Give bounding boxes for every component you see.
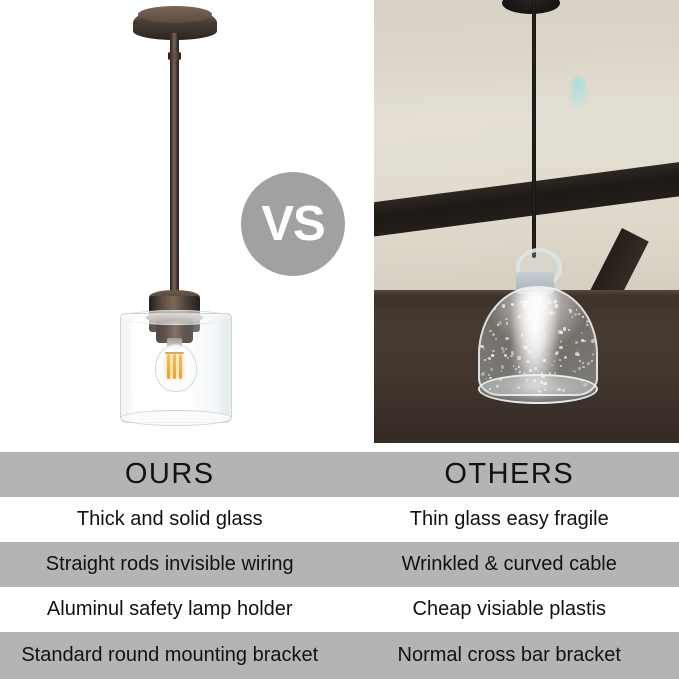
glass-bubble <box>576 309 578 311</box>
glass-bubble <box>501 370 503 372</box>
glass-bubble <box>577 303 579 305</box>
glass-bubble <box>501 365 504 368</box>
table-header-row: OURS OTHERS <box>0 452 679 497</box>
glass-bubble <box>563 327 566 330</box>
glass-bubble <box>489 330 491 332</box>
glass-bubble <box>492 354 495 357</box>
glass-bubble <box>505 318 507 320</box>
glass-bubble <box>560 331 562 333</box>
glass-shade-bottom-rim <box>120 410 232 426</box>
glass-bubble <box>485 333 486 334</box>
glass-bubble <box>587 324 590 327</box>
straight-downrod <box>170 33 179 296</box>
glass-bubble <box>575 341 578 344</box>
glass-bubble <box>578 367 581 370</box>
glass-bubble <box>566 345 567 346</box>
glass-bubble <box>582 366 584 368</box>
glass-bubble <box>579 360 581 362</box>
glass-bubble <box>488 357 491 360</box>
others-feature: Wrinkled & curved cable <box>340 553 679 576</box>
table-row: Standard round mounting bracket Normal c… <box>0 632 679 679</box>
glass-bubble <box>492 350 495 353</box>
ours-feature: Aluminul safety lamp holder <box>0 598 340 621</box>
glass-bubble <box>498 321 502 325</box>
glass-bubble <box>578 313 580 315</box>
glass-bubble <box>582 316 583 317</box>
glass-bubble <box>584 340 587 343</box>
glass-bubble <box>484 359 486 361</box>
glass-bubble <box>560 365 561 366</box>
column-header-others: OTHERS <box>340 458 679 491</box>
glass-bubble <box>577 353 581 357</box>
glass-bubble <box>489 362 490 363</box>
vs-badge-label: VS <box>261 200 324 249</box>
glass-bubble <box>564 356 567 359</box>
glass-bubble <box>480 345 484 349</box>
vs-badge: VS <box>241 172 345 276</box>
table-row: Aluminul safety lamp holder Cheap visiab… <box>0 587 679 632</box>
others-feature: Thin glass easy fragile <box>340 508 679 531</box>
glass-bubble <box>568 329 569 330</box>
glass-bubble <box>582 362 584 364</box>
others-product-photo <box>374 0 679 443</box>
glass-bubble <box>490 368 492 370</box>
comparison-infographic: VS OURS OTHERS Thick and solid glass <box>0 0 679 679</box>
glass-bubble <box>506 322 508 324</box>
glass-bubble <box>502 350 505 353</box>
glass-bubble <box>505 337 508 340</box>
glass-bubble <box>560 340 563 343</box>
filament-strand <box>167 354 170 379</box>
teal-reflection <box>571 77 586 110</box>
filament-strand <box>173 354 176 379</box>
glass-bubble <box>495 308 497 310</box>
rod-joint <box>168 52 181 60</box>
glass-bubble <box>495 338 497 340</box>
ours-feature: Straight rods invisible wiring <box>0 553 340 576</box>
column-header-ours: OURS <box>0 458 340 491</box>
glass-bubble <box>483 348 485 350</box>
ours-feature: Thick and solid glass <box>0 508 340 531</box>
others-feature: Cheap visiable plastis <box>340 598 679 621</box>
comparison-table: OURS OTHERS Thick and solid glass Thin g… <box>0 452 679 679</box>
glass-bubble <box>574 313 577 316</box>
glass-bubble <box>559 346 563 350</box>
glass-bubble <box>505 348 507 350</box>
table-row: Thick and solid glass Thin glass easy fr… <box>0 497 679 542</box>
top-images-area: VS <box>0 0 679 452</box>
glass-bubble <box>575 371 577 373</box>
glass-bubble <box>572 316 574 318</box>
glass-bubble <box>577 350 578 351</box>
glass-bubble <box>587 362 590 365</box>
filament-strand <box>179 354 182 379</box>
ceiling-shading <box>374 0 679 160</box>
canopy-top-face <box>138 6 212 23</box>
glass-bubble <box>492 333 495 336</box>
glass-bubble <box>559 359 561 361</box>
glass-bubble <box>585 313 587 315</box>
glass-bubble <box>581 339 584 342</box>
glass-bubble <box>592 353 594 355</box>
table-row: Straight rods invisible wiring Wrinkled … <box>0 542 679 587</box>
glass-bubble <box>488 299 491 302</box>
glass-bubble <box>591 360 593 362</box>
glass-bubble <box>502 304 506 308</box>
glass-bubble <box>507 357 509 359</box>
glass-bubble <box>482 372 485 375</box>
glass-highlight <box>131 322 138 410</box>
shade-bottom-rim <box>478 374 598 404</box>
glass-bubble <box>591 339 595 343</box>
hanging-cable <box>532 0 536 258</box>
glass-bubble <box>586 320 589 323</box>
glass-bubble <box>573 370 575 372</box>
glass-bubble <box>486 313 489 316</box>
glass-bubble <box>581 332 583 334</box>
glass-bubble <box>485 378 487 380</box>
others-feature: Normal cross bar bracket <box>340 644 679 667</box>
glass-bubble <box>497 324 498 325</box>
ours-feature: Standard round mounting bracket <box>0 644 340 667</box>
